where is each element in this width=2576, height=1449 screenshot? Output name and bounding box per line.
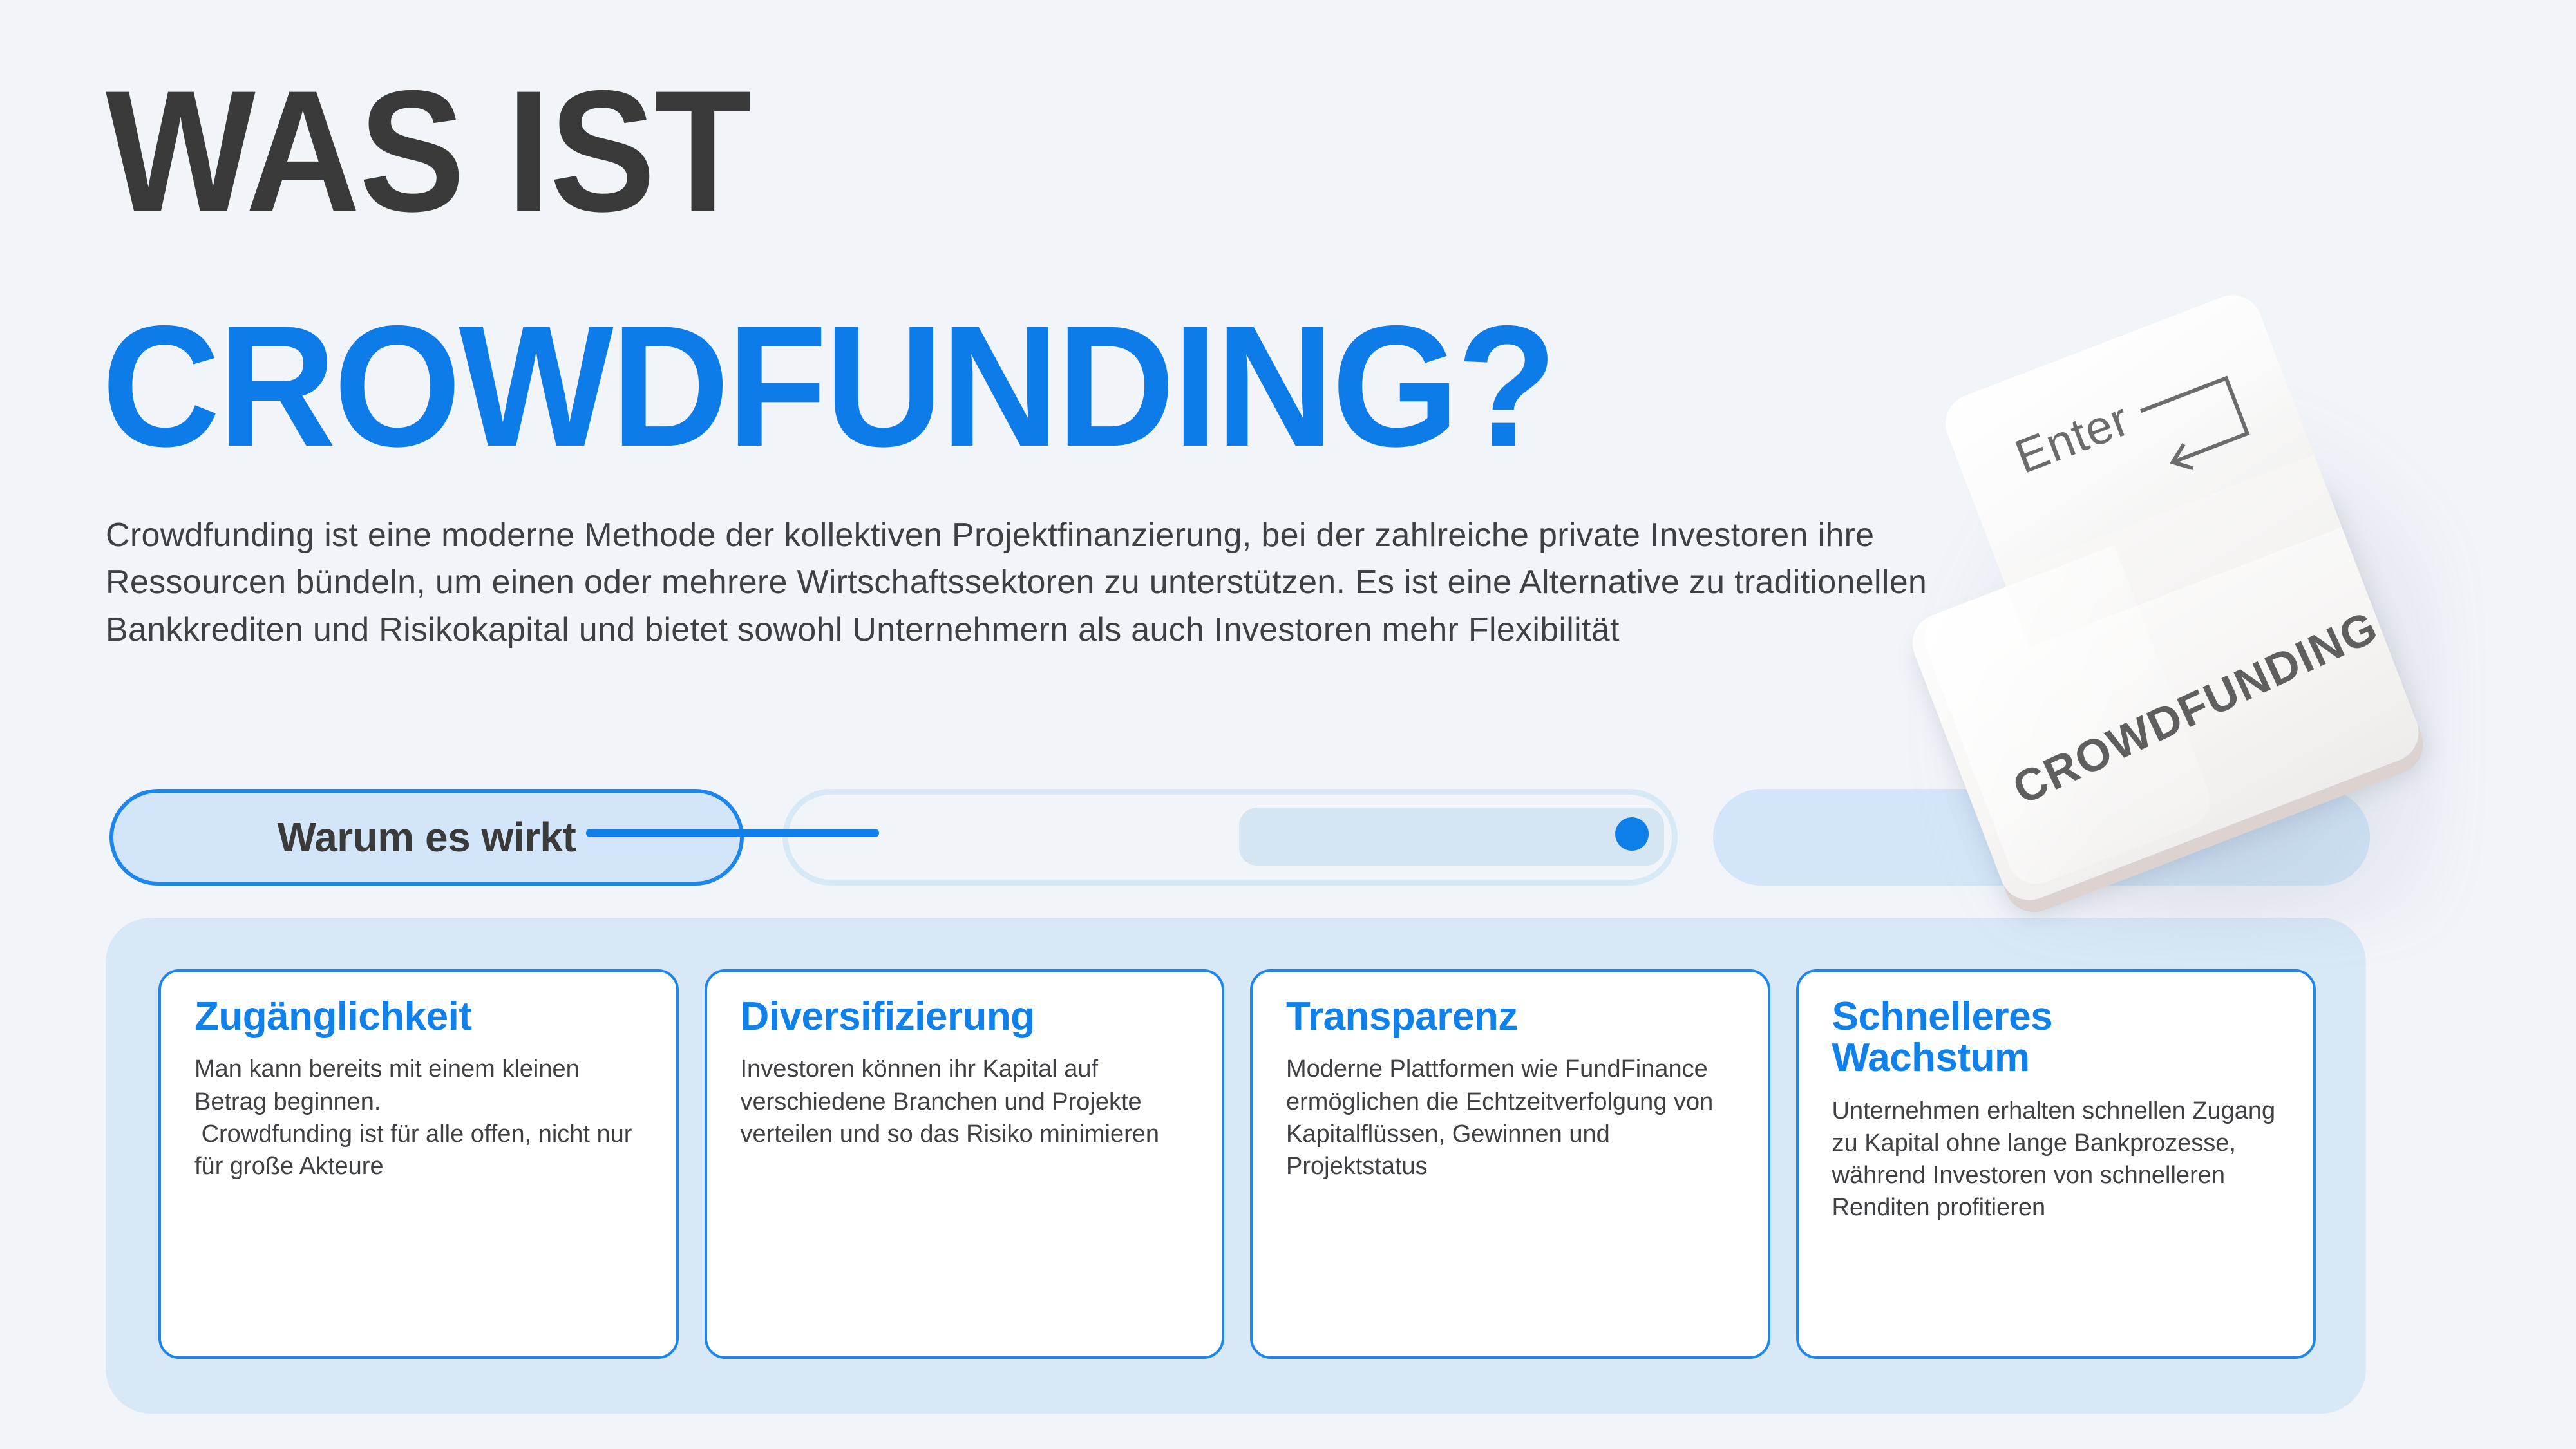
benefit-card-body: Unternehmen erhalten schnellen Zugang zu… bbox=[1832, 1095, 2282, 1224]
benefit-card-body: Moderne Plattformen wie FundFinance ermö… bbox=[1286, 1053, 1736, 1182]
slider-track[interactable] bbox=[586, 829, 879, 837]
ghost-pill[interactable] bbox=[1713, 789, 2370, 885]
benefit-card-accessibility[interactable]: Zugänglichkeit Man kann bereits mit eine… bbox=[158, 969, 679, 1359]
controls-row: Warum es wirkt bbox=[109, 789, 2363, 885]
slider-pill-container[interactable] bbox=[782, 789, 1678, 885]
benefit-card-title: Diversifizierung bbox=[741, 996, 1190, 1037]
why-it-works-pill-label: Warum es wirkt bbox=[278, 813, 576, 861]
slider-thumb[interactable] bbox=[1615, 817, 1649, 851]
slider-inner-panel bbox=[1239, 808, 1664, 866]
benefit-card-diversification[interactable]: Diversifizierung Investoren können ihr K… bbox=[705, 969, 1225, 1359]
intro-paragraph: Crowdfunding ist eine moderne Methode de… bbox=[106, 512, 1973, 654]
benefits-card-list: Zugänglichkeit Man kann bereits mit eine… bbox=[158, 969, 2316, 1359]
benefit-card-title: Transparenz bbox=[1286, 996, 1736, 1037]
poster-canvas: WAS IST CROWDFUNDING? Crowdfunding ist e… bbox=[0, 0, 2576, 1449]
why-it-works-pill[interactable]: Warum es wirkt bbox=[109, 789, 744, 885]
benefit-card-title: Zugänglichkeit bbox=[194, 996, 644, 1037]
key-body-upper bbox=[1937, 287, 2326, 605]
benefit-card-body: Investoren können ihr Kapital auf versch… bbox=[741, 1053, 1190, 1150]
page-title-line-1: WAS IST bbox=[106, 64, 750, 237]
benefit-card-transparency[interactable]: Transparenz Moderne Plattformen wie Fund… bbox=[1250, 969, 1770, 1359]
key-body-joint bbox=[2002, 455, 2342, 647]
benefit-card-body: Man kann bereits mit einem kleinen Betra… bbox=[194, 1053, 644, 1182]
enter-arrow-icon bbox=[2123, 328, 2302, 507]
enter-key-illustration: Enter CROWDFUNDING bbox=[1855, 309, 2576, 1005]
page-title-line-2: CROWDFUNDING? bbox=[102, 299, 1555, 472]
key-label: CROWDFUNDING bbox=[2005, 599, 2389, 815]
benefit-card-title: Schnelleres Wachstum bbox=[1832, 996, 2282, 1079]
benefit-card-faster-growth[interactable]: Schnelleres Wachstum Unternehmen erhalte… bbox=[1796, 969, 2316, 1359]
enter-label: Enter bbox=[2008, 391, 2137, 484]
